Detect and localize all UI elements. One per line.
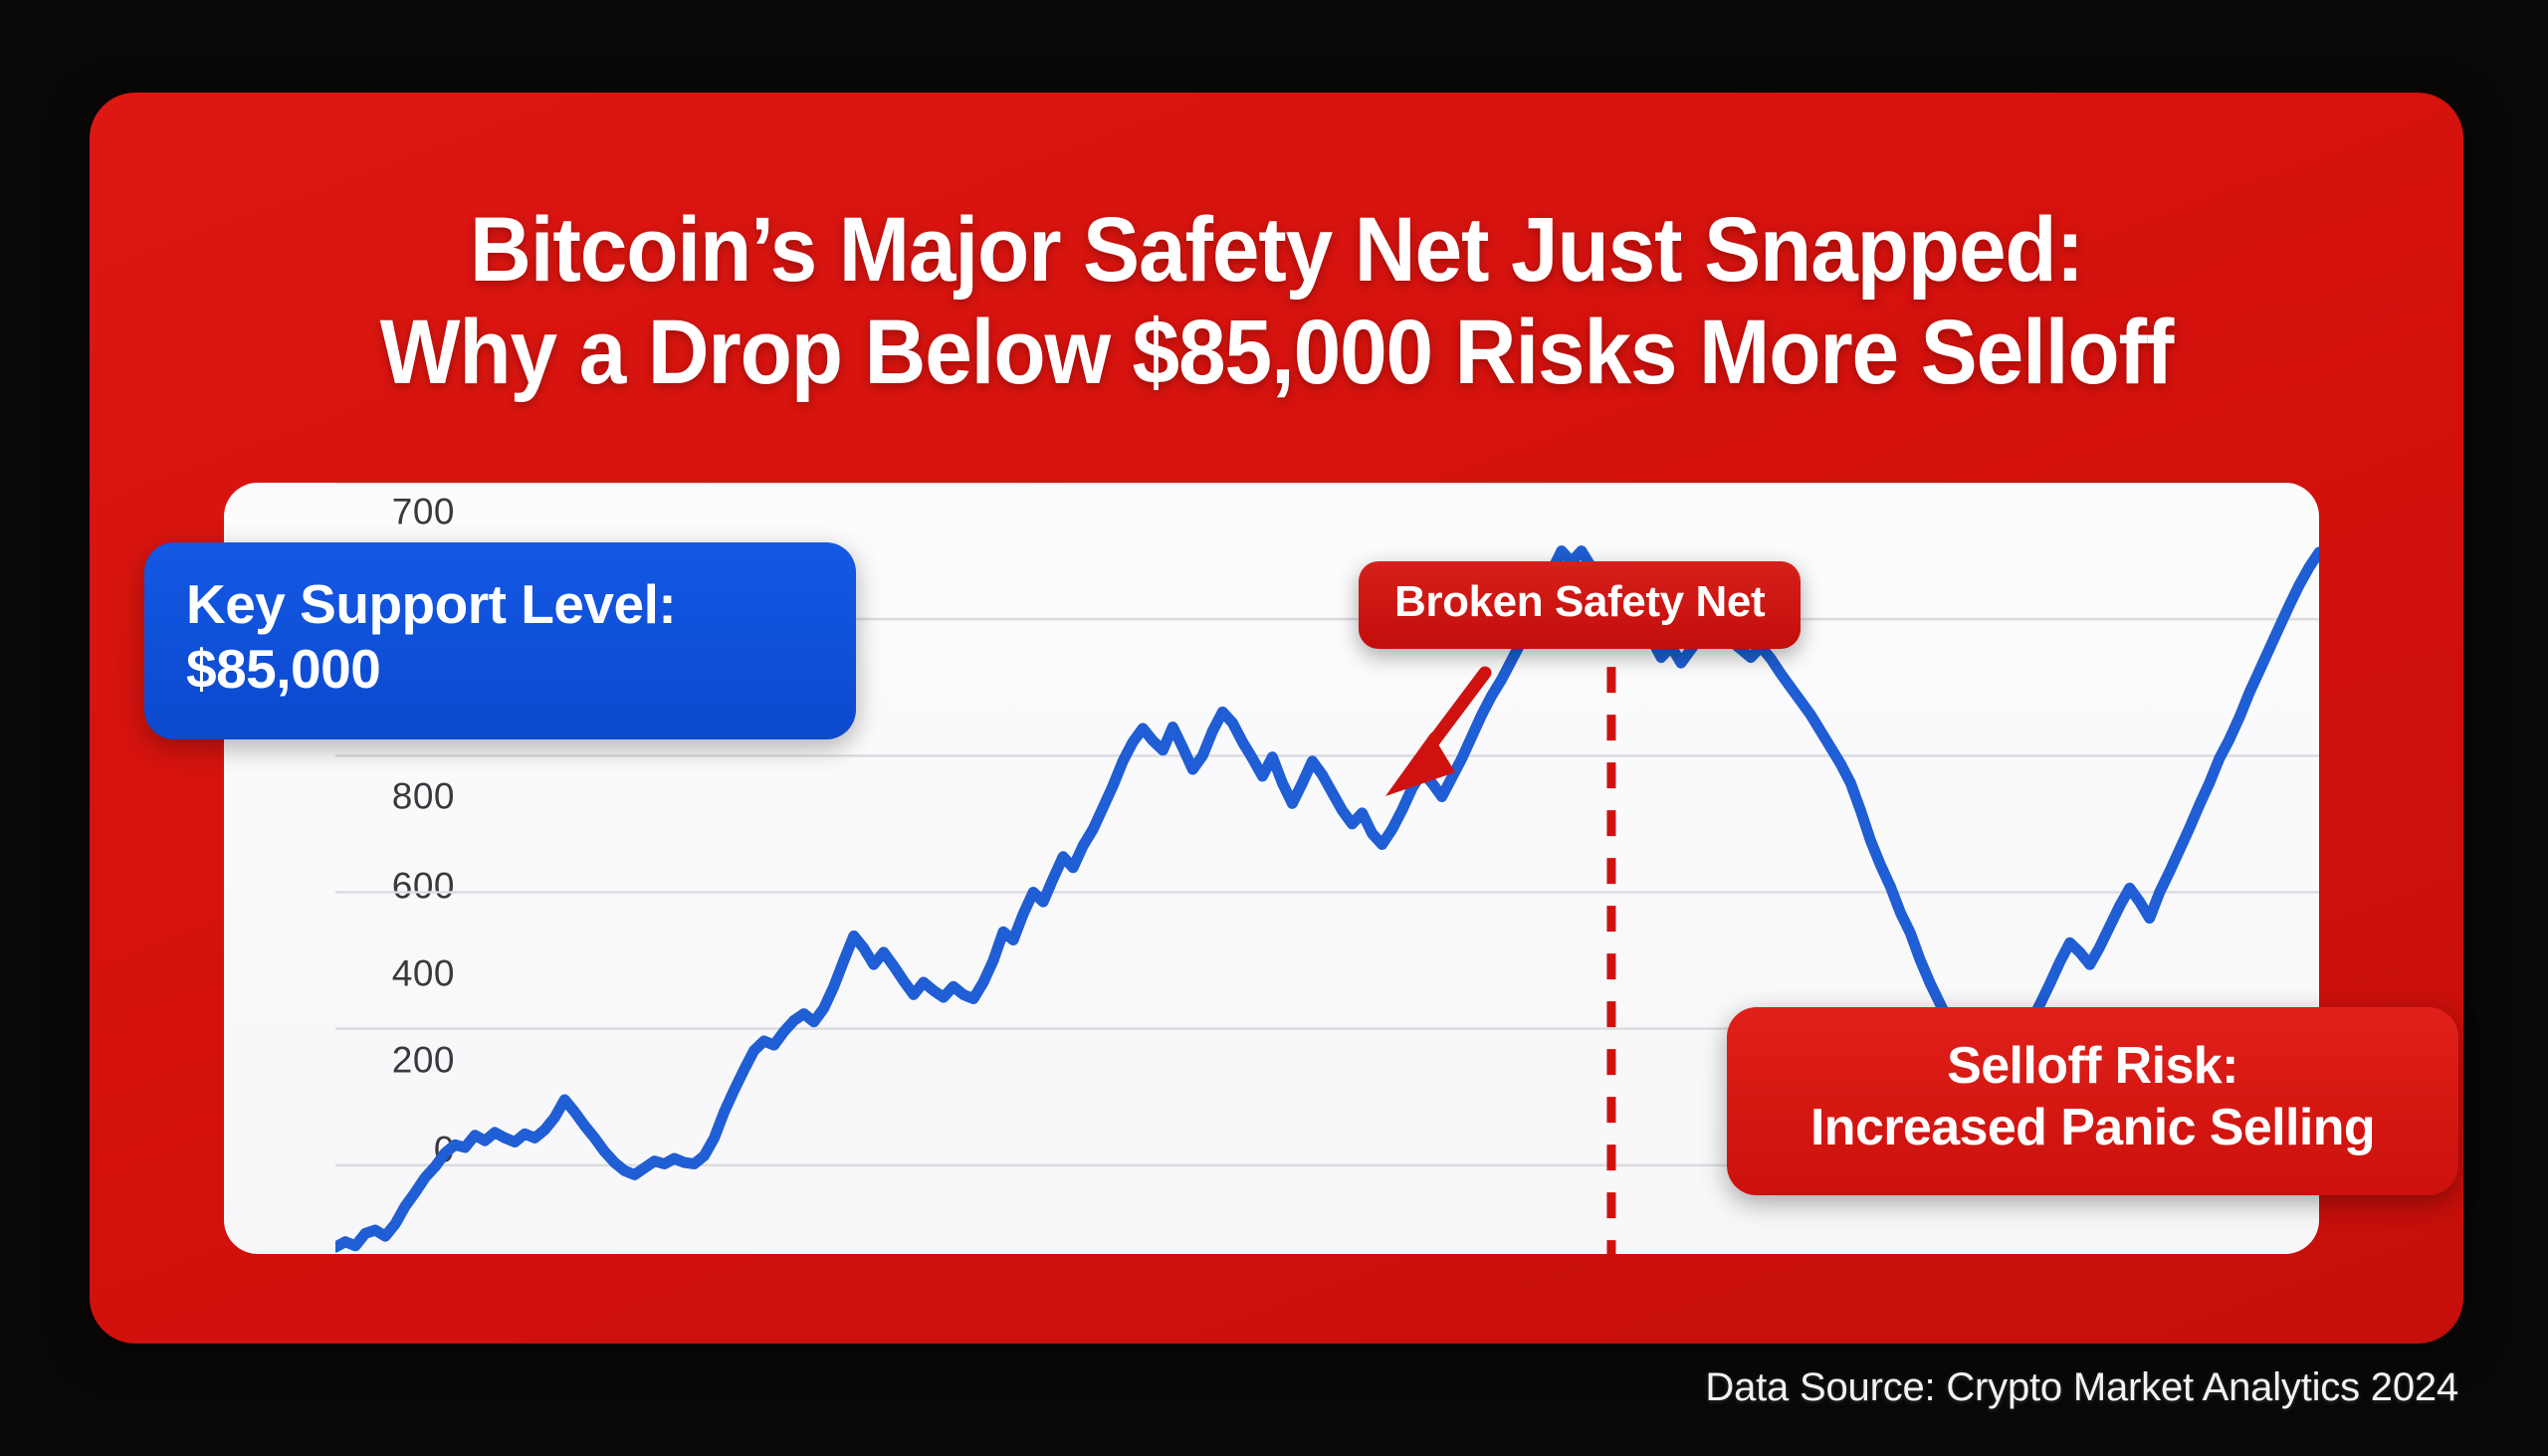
key-support-badge: Key Support Level: $85,000 [144, 542, 856, 739]
selloff-risk-line-1: Selloff Risk: [1947, 1037, 2238, 1095]
selloff-risk-line-2: Increased Panic Selling [1727, 1097, 2458, 1158]
infographic-canvas: Bitcoin’s Major Safety Net Just Snapped:… [0, 0, 2548, 1456]
selloff-risk-badge: Selloff Risk: Increased Panic Selling [1727, 1007, 2458, 1195]
broken-safety-net-label: Broken Safety Net [1394, 577, 1765, 626]
headline-line-2: Why a Drop Below $85,000 Risks More Sell… [172, 302, 2380, 404]
headline-line-1: Bitcoin’s Major Safety Net Just Snapped: [470, 199, 2083, 301]
key-support-value: $85,000 [186, 637, 856, 702]
broken-safety-net-badge: Broken Safety Net [1359, 561, 1801, 649]
page-title: Bitcoin’s Major Safety Net Just Snapped:… [172, 199, 2380, 404]
data-source-footer: Data Source: Crypto Market Analytics 202… [1705, 1365, 2458, 1410]
key-support-label: Key Support Level: [186, 573, 676, 635]
